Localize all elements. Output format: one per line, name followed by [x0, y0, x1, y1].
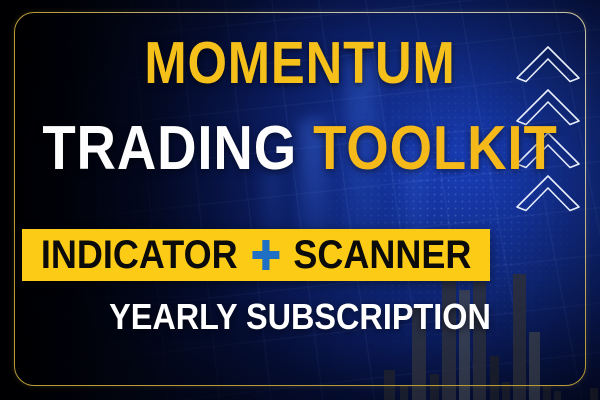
- banner-label-scanner: SCANNER: [293, 235, 471, 275]
- headline-trading-toolkit: TRADING TOOLKIT: [36, 118, 564, 180]
- headline-momentum: MOMENTUM: [42, 34, 558, 93]
- subtitle-yearly-subscription: YEARLY SUBSCRIPTION: [30, 299, 570, 335]
- headline-word-trading: TRADING: [42, 114, 297, 183]
- plus-icon: [250, 238, 281, 272]
- headline-space: [297, 114, 313, 183]
- headline-word-toolkit: TOOLKIT: [313, 114, 558, 183]
- promo-poster: MOMENTUM TRADING TOOLKIT INDICATOR SCANN…: [0, 0, 600, 400]
- feature-banner: INDICATOR SCANNER: [22, 229, 490, 281]
- banner-label-indicator: INDICATOR: [41, 235, 238, 275]
